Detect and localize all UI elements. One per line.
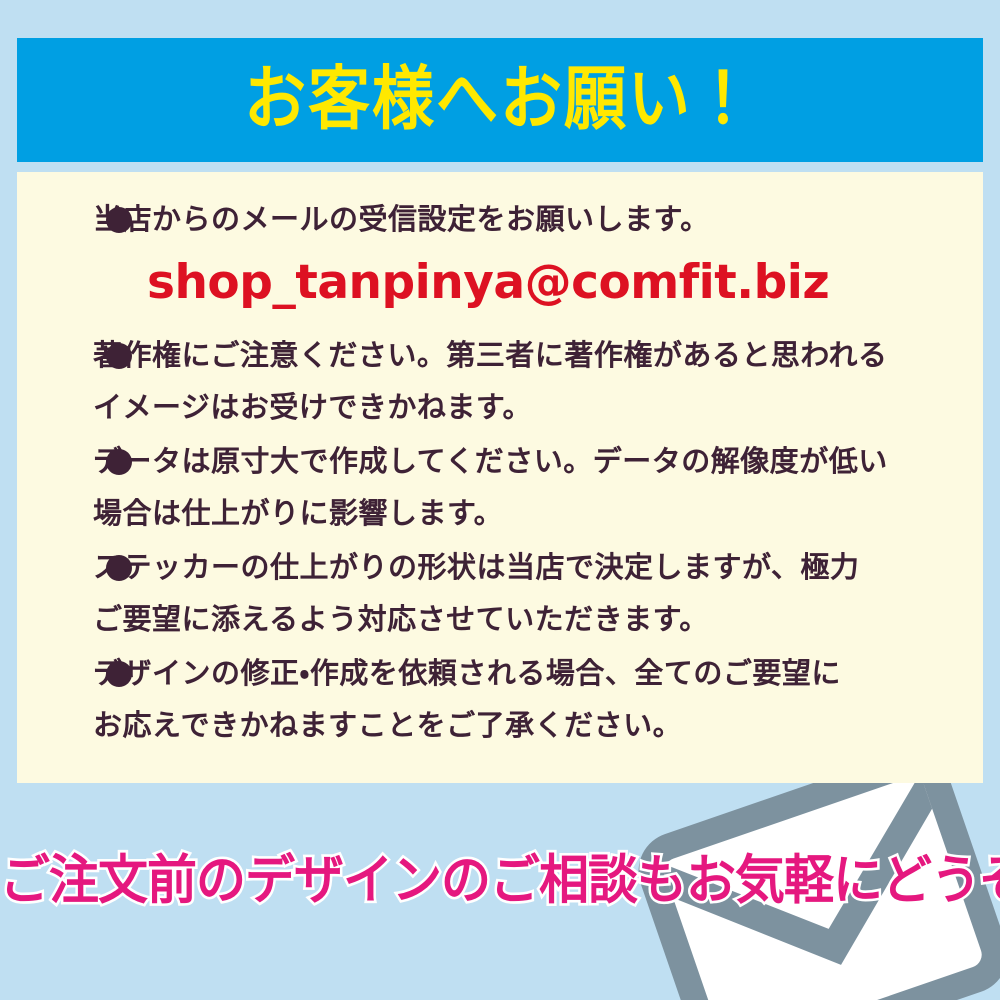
- list-item: データは原寸大で作成してください。データの解像度が低い 場合は仕上がりに影響しま…: [47, 436, 953, 540]
- footer-message: ご注文前のデザインのご相談もお気軽にどうぞ: [0, 850, 1000, 911]
- list-item-line: お応えできかねますことをご了承ください。: [93, 700, 953, 752]
- list-item: ステッカーの仕上がりの形状は当店で決定しますが、極力 ご要望に添えるよう対応させ…: [47, 542, 953, 646]
- list-item-line: イメージはお受けできかねます。: [93, 382, 953, 434]
- list-item-line: 場合は仕上がりに影響します。: [93, 488, 953, 540]
- list-item: デザインの修正・作成を依頼される場合、全てのご要望に お応えできかねますことをご…: [47, 648, 953, 752]
- list-item-line: ステッカーの仕上がりの形状は当店で決定しますが、極力: [93, 542, 953, 594]
- list-item-line: 当店からのメールの受信設定をお願いします。: [93, 194, 953, 246]
- poster-canvas: お客様へお願い！ 当店からのメールの受信設定をお願いします。 shop_tanp…: [0, 0, 1000, 1000]
- notice-list: 当店からのメールの受信設定をお願いします。 shop_tanpinya@comf…: [47, 194, 953, 752]
- list-item-line: データは原寸大で作成してください。データの解像度が低い: [93, 436, 953, 488]
- bullet-dot-icon: [106, 661, 132, 687]
- bullet-dot-icon: [106, 343, 132, 369]
- bullet-dot-icon: [106, 207, 132, 233]
- list-item-line: 著作権にご注意ください。第三者に著作権があると思われる: [93, 330, 953, 382]
- bullet-dot-icon: [106, 555, 132, 581]
- header-bar: お客様へお願い！: [17, 38, 983, 162]
- bullet-dot-icon: [106, 449, 132, 475]
- page-title: お客様へお願い！: [244, 65, 756, 134]
- list-item-line: デザインの修正・作成を依頼される場合、全てのご要望に: [93, 648, 953, 700]
- list-item: 当店からのメールの受信設定をお願いします。: [47, 194, 953, 246]
- contact-email[interactable]: shop_tanpinya@comfit.biz: [47, 252, 953, 314]
- list-item: 著作権にご注意ください。第三者に著作権があると思われる イメージはお受けできかね…: [47, 330, 953, 434]
- notice-panel: 当店からのメールの受信設定をお願いします。 shop_tanpinya@comf…: [17, 172, 983, 783]
- list-item-line: ご要望に添えるよう対応させていただきます。: [93, 594, 953, 646]
